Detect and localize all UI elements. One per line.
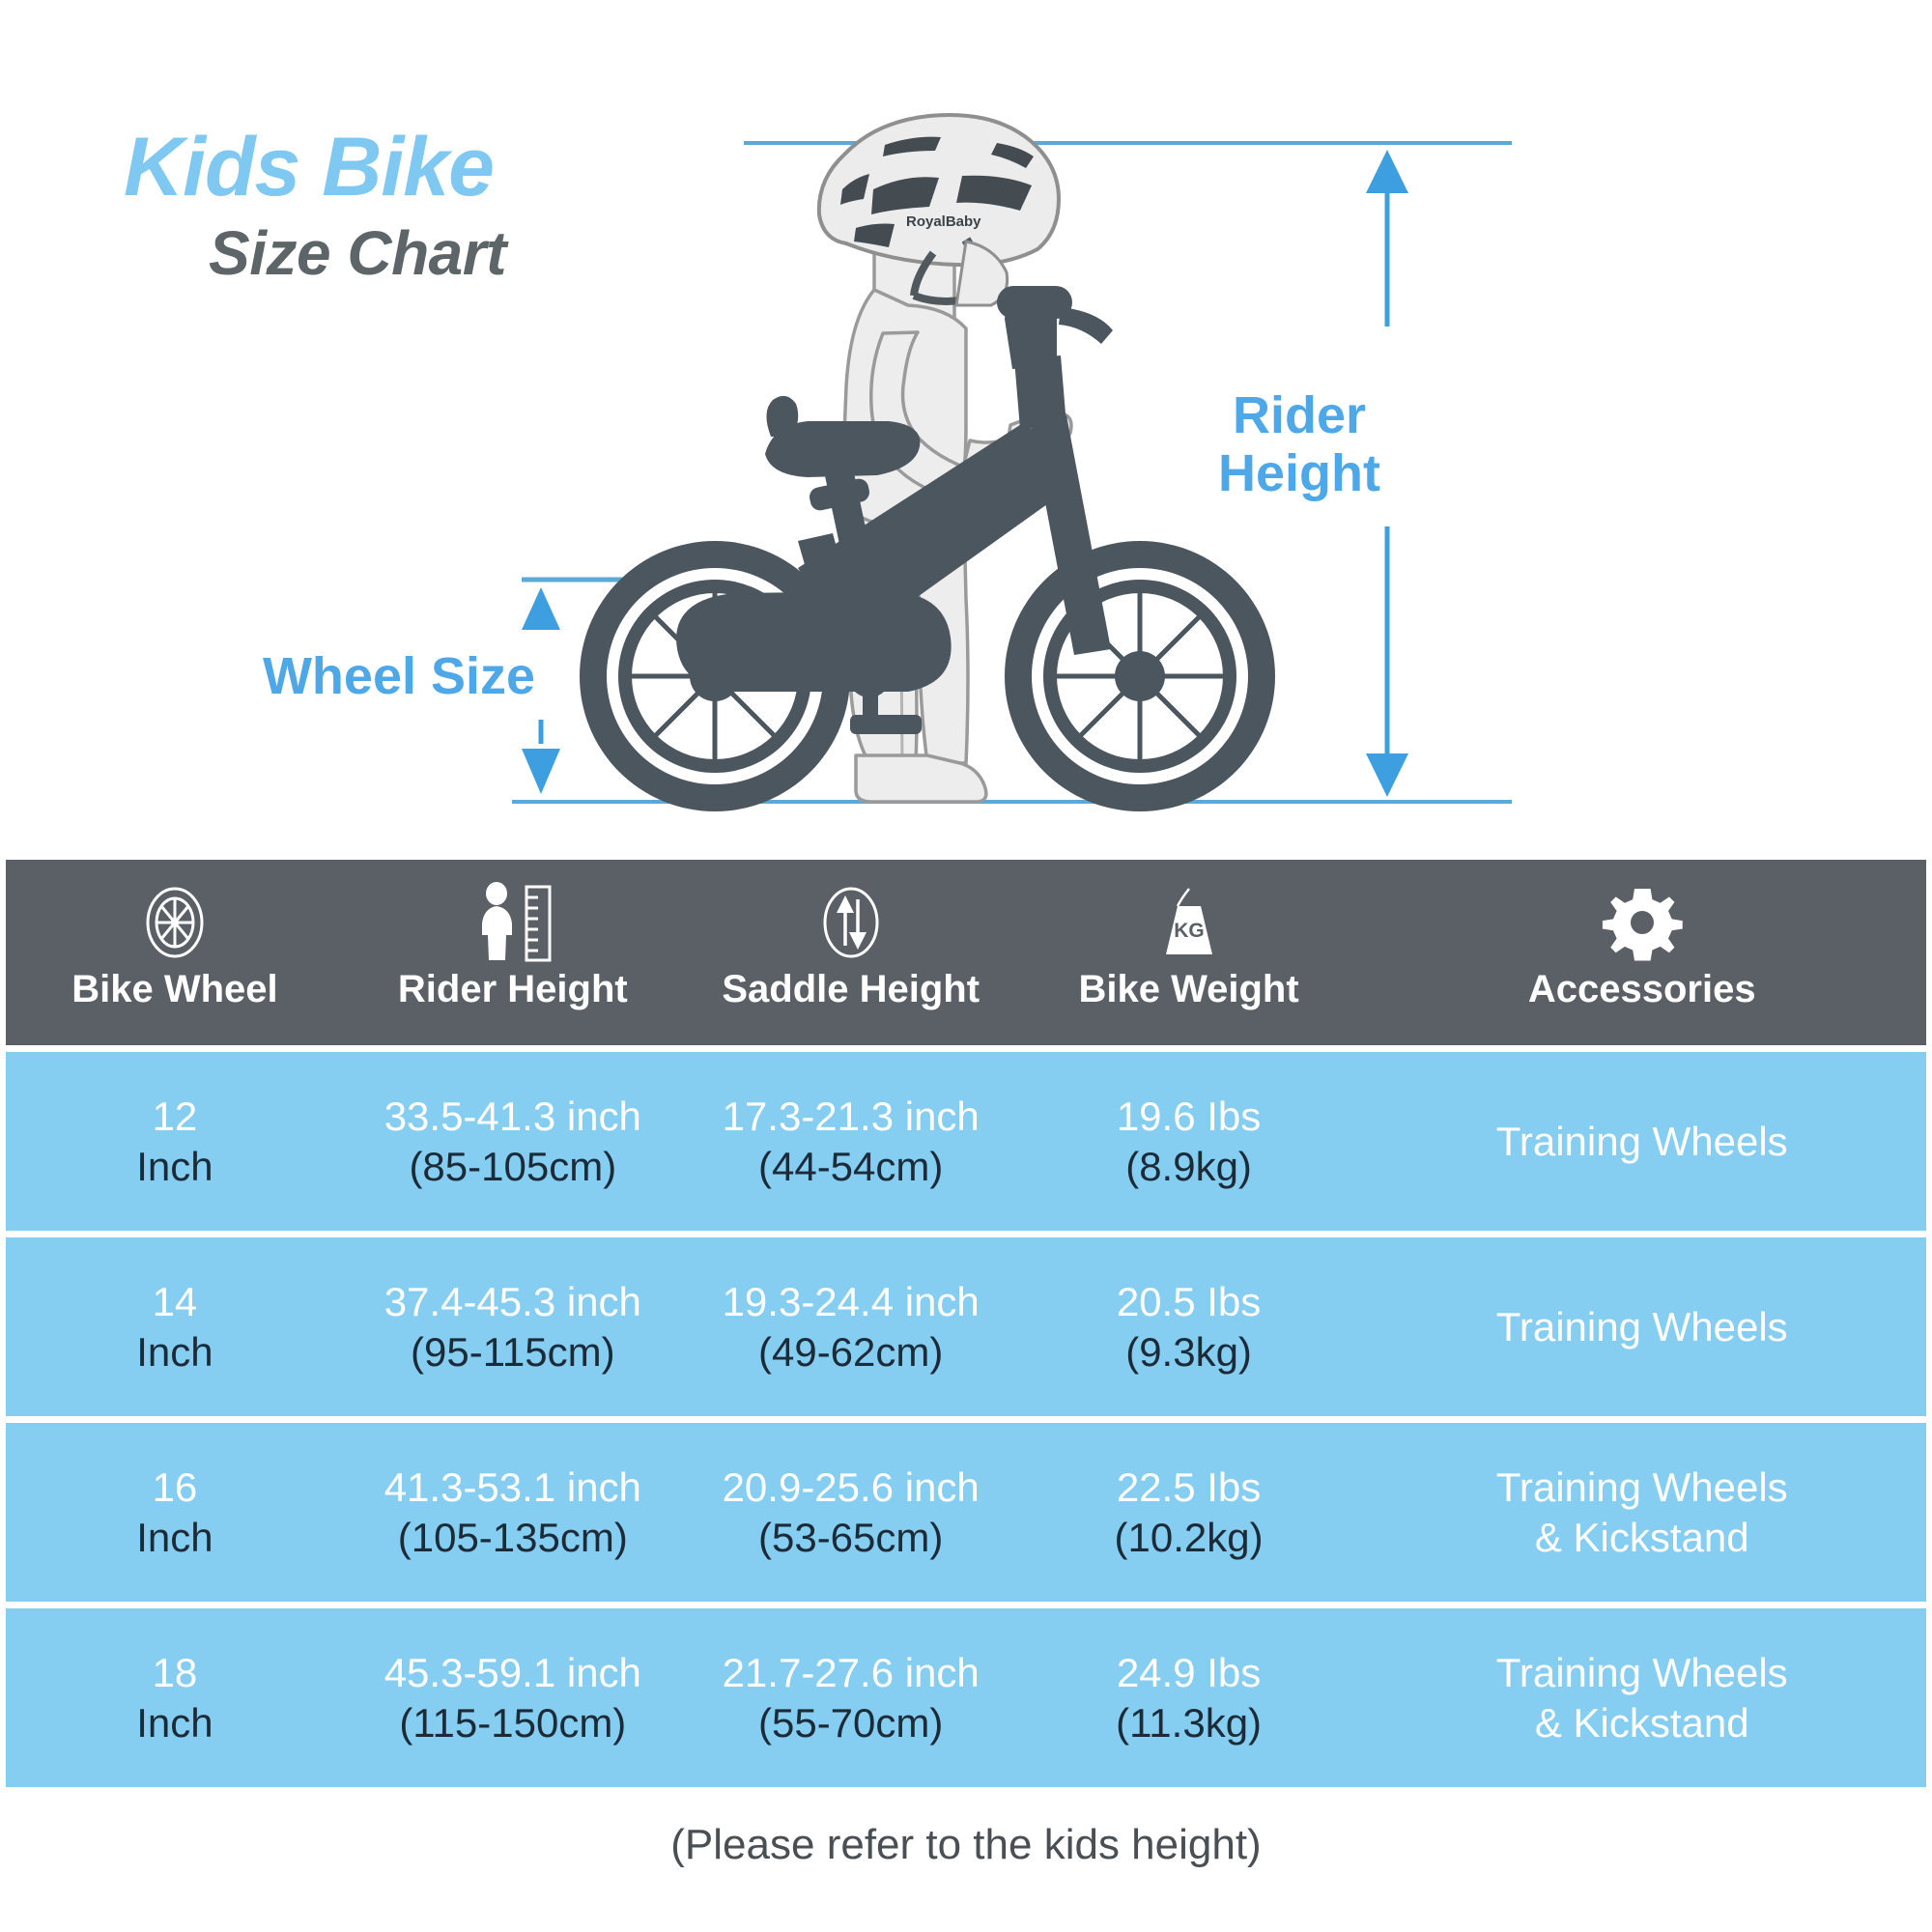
cell-accessories: Training Wheels: [1358, 1052, 1926, 1231]
rider-height-double-arrow: [1366, 150, 1408, 797]
value-weight-lbs: 24.9 Ibs: [1117, 1648, 1261, 1697]
value-wheel-unit: Inch: [136, 1698, 213, 1747]
value-rider-height-cm: (105-135cm): [398, 1513, 628, 1562]
value-weight-kg: (9.3kg): [1125, 1327, 1252, 1377]
value-saddle-height-cm: (53-65cm): [758, 1513, 943, 1562]
value-accessories-line1: Training Wheels: [1496, 1648, 1788, 1697]
gear-icon: [1602, 881, 1683, 964]
value-saddle-height-inch: 21.7-27.6 inch: [723, 1648, 980, 1697]
header-cell-bike-wheel: Bike Wheel: [6, 860, 344, 1045]
value-saddle-height-cm: (49-62cm): [758, 1327, 943, 1377]
value-wheel-unit: Inch: [136, 1513, 213, 1562]
value-wheel-unit: Inch: [136, 1142, 213, 1191]
value-saddle-height-inch: 20.9-25.6 inch: [723, 1463, 980, 1512]
header-label-bike-weight: Bike Weight: [1078, 970, 1298, 1009]
table-row: 12 Inch 33.5-41.3 inch (85-105cm) 17.3-2…: [6, 1052, 1926, 1231]
value-saddle-height-cm: (44-54cm): [758, 1142, 943, 1191]
value-wheel-size: 12: [153, 1092, 198, 1141]
bike-and-rider-illustration: RoyalBaby: [0, 0, 1932, 850]
value-rider-height-inch: 33.5-41.3 inch: [384, 1092, 641, 1141]
value-rider-height-inch: 45.3-59.1 inch: [384, 1648, 641, 1697]
illustration-panel: Kids Bike Size Chart Rider Height Wheel …: [0, 0, 1932, 850]
value-weight-lbs: 19.6 Ibs: [1117, 1092, 1261, 1141]
cell-rider-height: 41.3-53.1 inch (105-135cm): [344, 1423, 682, 1602]
value-rider-height-cm: (115-150cm): [399, 1698, 626, 1747]
cell-saddle-height: 20.9-25.6 inch (53-65cm): [682, 1423, 1020, 1602]
value-wheel-size: 18: [153, 1648, 198, 1697]
header-cell-bike-weight: KG Bike Weight: [1020, 860, 1358, 1045]
cell-accessories: Training Wheels: [1358, 1237, 1926, 1416]
cell-bike-wheel: 14 Inch: [6, 1237, 344, 1416]
value-weight-lbs: 22.5 Ibs: [1117, 1463, 1261, 1512]
cell-bike-weight: 19.6 Ibs (8.9kg): [1020, 1052, 1358, 1231]
table-row: 16 Inch 41.3-53.1 inch (105-135cm) 20.9-…: [6, 1423, 1926, 1602]
pedal: [850, 715, 922, 734]
value-wheel-unit: Inch: [136, 1327, 213, 1377]
cell-saddle-height: 17.3-21.3 inch (44-54cm): [682, 1052, 1020, 1231]
header-cell-accessories: Accessories: [1358, 860, 1926, 1045]
saddle-nose: [766, 396, 798, 437]
value-accessories-line2: & Kickstand: [1535, 1513, 1749, 1562]
cell-rider-height: 33.5-41.3 inch (85-105cm): [344, 1052, 682, 1231]
value-weight-kg: (8.9kg): [1125, 1142, 1252, 1191]
table-row: 14 Inch 37.4-45.3 inch (95-115cm) 19.3-2…: [6, 1237, 1926, 1416]
cell-bike-wheel: 12 Inch: [6, 1052, 344, 1231]
cell-bike-wheel: 16 Inch: [6, 1423, 344, 1602]
kg-weight-tag-icon: KG: [1149, 881, 1230, 964]
cell-accessories: Training Wheels & Kickstand: [1358, 1608, 1926, 1787]
cell-saddle-height: 21.7-27.6 inch (55-70cm): [682, 1608, 1020, 1787]
table-header-row: Bike Wheel Rider Height: [6, 860, 1926, 1045]
value-rider-height-inch: 41.3-53.1 inch: [384, 1463, 641, 1512]
cell-saddle-height: 19.3-24.4 inch (49-62cm): [682, 1237, 1020, 1416]
cell-bike-weight: 22.5 Ibs (10.2kg): [1020, 1423, 1358, 1602]
wheel-size-double-arrow: [522, 587, 560, 794]
value-saddle-height-inch: 19.3-24.4 inch: [723, 1277, 980, 1326]
value-accessories-line1: Training Wheels: [1496, 1302, 1788, 1351]
crank-arm: [863, 676, 878, 723]
value-saddle-height-inch: 17.3-21.3 inch: [723, 1092, 980, 1141]
header-label-rider-height: Rider Height: [398, 970, 628, 1009]
svg-text:KG: KG: [1174, 920, 1205, 942]
person-ruler-icon: [467, 881, 559, 964]
header-label-saddle-height: Saddle Height: [722, 970, 980, 1009]
value-rider-height-cm: (85-105cm): [409, 1142, 616, 1191]
value-accessories-line1: Training Wheels: [1496, 1117, 1788, 1166]
saddle-height-arrow-icon: [810, 881, 892, 964]
value-accessories-line2: & Kickstand: [1535, 1698, 1749, 1747]
value-wheel-size: 14: [153, 1277, 198, 1326]
header-cell-rider-height: Rider Height: [344, 860, 682, 1045]
size-chart-table: Bike Wheel Rider Height: [6, 860, 1926, 1787]
header-cell-saddle-height: Saddle Height: [682, 860, 1020, 1045]
value-wheel-size: 16: [153, 1463, 198, 1512]
value-weight-kg: (11.3kg): [1116, 1698, 1262, 1747]
footer-note: (Please refer to the kids height): [0, 1821, 1932, 1869]
header-label-accessories: Accessories: [1528, 970, 1756, 1009]
cell-bike-wheel: 18 Inch: [6, 1608, 344, 1787]
table-row: 18 Inch 45.3-59.1 inch (115-150cm) 21.7-…: [6, 1608, 1926, 1787]
value-accessories-line1: Training Wheels: [1496, 1463, 1788, 1512]
header-label-bike-wheel: Bike Wheel: [71, 970, 277, 1009]
value-weight-lbs: 20.5 Ibs: [1117, 1277, 1261, 1326]
cell-rider-height: 45.3-59.1 inch (115-150cm): [344, 1608, 682, 1787]
brake-lever: [1059, 307, 1113, 344]
value-rider-height-cm: (95-115cm): [411, 1327, 615, 1377]
helmet-brand-text: RoyalBaby: [906, 213, 981, 230]
cell-rider-height: 37.4-45.3 inch (95-115cm): [344, 1237, 682, 1416]
value-rider-height-inch: 37.4-45.3 inch: [384, 1277, 641, 1326]
bike-wheel-icon: [134, 881, 215, 964]
value-saddle-height-cm: (55-70cm): [758, 1698, 943, 1747]
cell-bike-weight: 20.5 Ibs (9.3kg): [1020, 1237, 1358, 1416]
cell-bike-weight: 24.9 Ibs (11.3kg): [1020, 1608, 1358, 1787]
value-weight-kg: (10.2kg): [1115, 1513, 1264, 1562]
cell-accessories: Training Wheels & Kickstand: [1358, 1423, 1926, 1602]
